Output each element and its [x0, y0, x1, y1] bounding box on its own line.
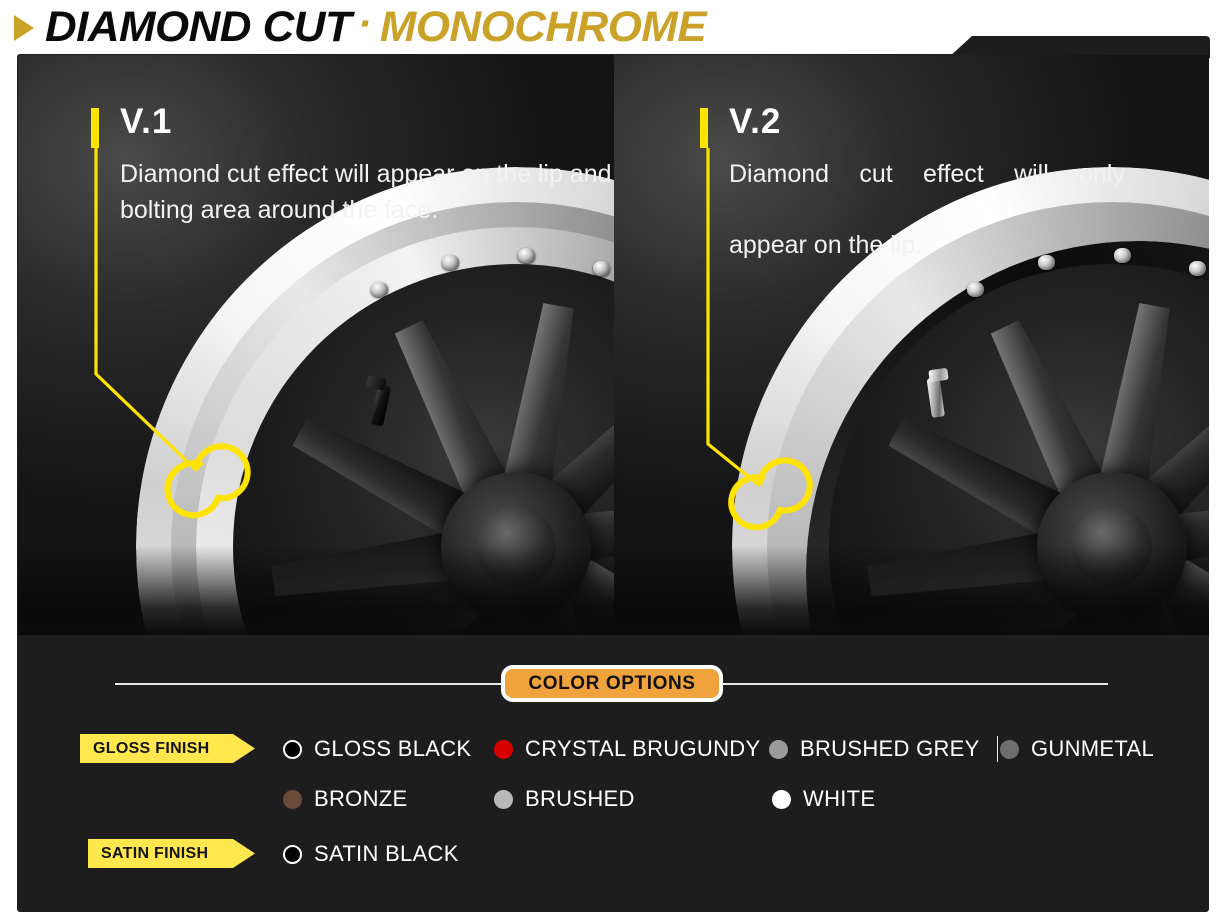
callout-version-label: V.1	[120, 104, 172, 139]
swatch-satin-black[interactable]: SATIN BLACK	[283, 841, 459, 867]
color-dot-icon	[772, 790, 791, 809]
wheel-bolt	[593, 261, 610, 276]
callout-accent-bar	[700, 108, 708, 148]
photo-bottom-fade	[18, 545, 614, 635]
gloss-finish-label: GLOSS FINISH	[93, 740, 210, 758]
swatch-gunmetal[interactable]: GUNMETAL	[1000, 736, 1154, 762]
color-dot-icon	[283, 845, 302, 864]
gloss-finish-tag: GLOSS FINISH	[80, 734, 255, 763]
color-dot-icon	[769, 740, 788, 759]
swatch-gloss-black[interactable]: GLOSS BLACK	[283, 736, 471, 762]
divider-line-right	[722, 683, 1108, 685]
play-triangle-icon	[14, 15, 34, 41]
text-cursor	[997, 736, 999, 762]
color-options-badge: COLOR OPTIONS	[501, 665, 723, 702]
color-options-label: COLOR OPTIONS	[528, 673, 695, 695]
callout-line-2: appear on the lip.	[729, 228, 1125, 264]
wheel-comparison-imagery	[18, 55, 1209, 635]
swatch-brushed[interactable]: BRUSHED	[494, 786, 635, 812]
callout-description: Diamond cut effect will only appear on t…	[729, 157, 1125, 264]
swatch-bronze[interactable]: BRONZE	[283, 786, 407, 812]
wheel-bolt	[518, 248, 535, 263]
page-title: DIAMOND CUT	[45, 6, 351, 49]
satin-finish-label: SATIN FINISH	[101, 845, 208, 863]
wheel-bolt	[371, 282, 388, 297]
callout-accent-bar	[91, 108, 99, 148]
swatch-crystal-brugundy[interactable]: CRYSTAL BRUGUNDY	[494, 736, 760, 762]
divider-line-left	[115, 683, 503, 685]
swatch-white[interactable]: WHITE	[772, 786, 875, 812]
page-subtitle: MONOCHROME	[380, 6, 706, 49]
callout-description: Diamond cut effect will appear on the li…	[120, 157, 630, 228]
bottom-white-strip	[0, 912, 1223, 924]
swatch-label: BRONZE	[314, 786, 407, 812]
photo-bottom-fade	[614, 545, 1209, 635]
wheel-bolt	[967, 282, 984, 297]
wheel-photo-v1	[18, 55, 614, 635]
swatch-label: WHITE	[803, 786, 875, 812]
callout-version-label: V.2	[729, 104, 781, 139]
swatch-label: GLOSS BLACK	[314, 736, 471, 762]
title-separator: ·	[358, 4, 371, 44]
swatch-label: GUNMETAL	[1031, 736, 1154, 762]
wheel-bolt	[1189, 261, 1206, 276]
color-dot-icon	[494, 740, 513, 759]
swatch-label: BRUSHED	[525, 786, 635, 812]
satin-finish-tag: SATIN FINISH	[88, 839, 255, 868]
color-dot-icon	[283, 740, 302, 759]
swatch-label: BRUSHED GREY	[800, 736, 980, 762]
color-dot-icon	[1000, 740, 1019, 759]
color-dot-icon	[283, 790, 302, 809]
swatch-label: CRYSTAL BRUGUNDY	[525, 736, 760, 762]
callout-line-1: Diamond cut effect will only	[729, 157, 1125, 228]
swatch-brushed-grey[interactable]: BRUSHED GREY	[769, 736, 998, 762]
color-dot-icon	[494, 790, 513, 809]
swatch-label: SATIN BLACK	[314, 841, 459, 867]
